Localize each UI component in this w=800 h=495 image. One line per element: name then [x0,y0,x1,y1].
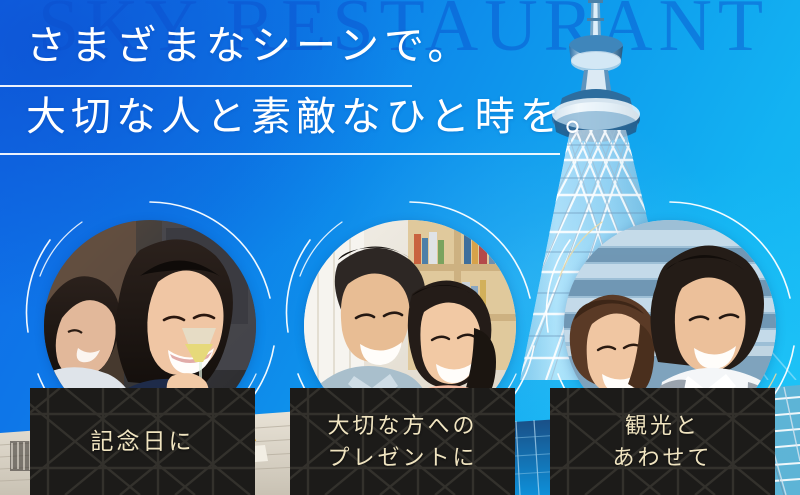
card-caption-box-gift: 大切な方への プレゼントに [290,388,515,495]
feature-card-anniversary[interactable]: 記念日に [20,196,280,495]
card-caption-text-anniversary: 記念日に [91,425,195,458]
headline-line-1: さまざまなシーンで。 [0,22,640,75]
promo-banner: SKY RESTAURANT [0,0,800,495]
feature-card-sightseeing[interactable]: 観光と あわせて [540,196,800,495]
card-caption-box-sightseeing: 観光と あわせて [550,388,775,495]
card-caption-box-anniversary: 記念日に [30,388,255,495]
card-caption-text-gift: 大切な方への プレゼントに [327,410,477,474]
headline-rule-bottom [0,153,560,155]
card-caption-text-sightseeing: 観光と あわせて [612,410,712,474]
feature-card-gift[interactable]: 大切な方への プレゼントに [280,196,540,495]
headline-block: さまざまなシーンで。 大切な人と素敵なひと時を。 [0,22,640,155]
headline-line-2: 大切な人と素敵なひと時を。 [0,87,640,144]
feature-cards-row: 記念日に [0,196,800,495]
